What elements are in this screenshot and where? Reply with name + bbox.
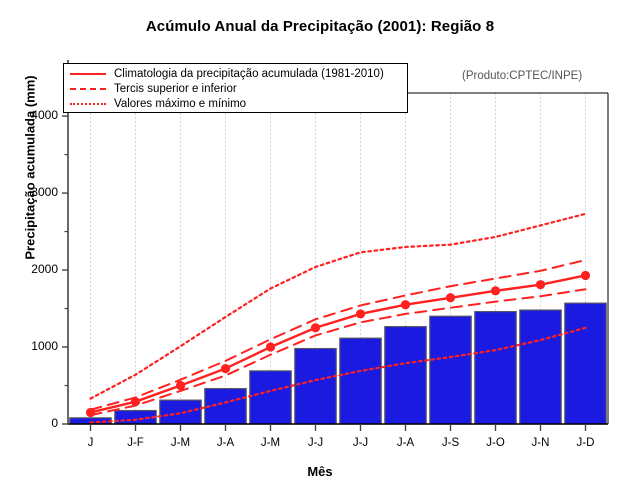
x-tick-label: J-N [518,437,564,449]
x-tick-label: J-A [203,437,249,449]
legend-line-dotted-icon [70,98,106,110]
x-tick-label: J-J [293,437,339,449]
y-tick-label: 4000 [16,108,58,122]
x-tick-label: J-M [158,437,204,449]
x-tick-label: J-F [113,437,159,449]
x-tick-label: J-S [428,437,474,449]
x-tick-label: J-A [383,437,429,449]
legend-item-climatology: Climatologia da precipitação acumulada (… [70,66,384,82]
y-tick-label: 0 [16,416,58,430]
x-tick-label: J-D [563,437,609,449]
legend-label: Climatologia da precipitação acumulada (… [114,68,384,80]
legend-label: Valores máximo e mínimo [114,98,246,110]
chart-figure: Acúmulo Anual da Precipitação (2001): Re… [0,0,640,500]
x-tick-label: J-O [473,437,519,449]
producer-annotation: (Produto:CPTEC/INPE) [462,70,582,82]
legend-label: Tercis superior e inferior [114,83,237,95]
x-axis-title: Mês [0,464,640,479]
legend-item-extremos: Valores máximo e mínimo [70,96,246,112]
legend-line-solid-icon [70,68,106,80]
x-tick-label: J-M [248,437,294,449]
y-tick-label: 3000 [16,185,58,199]
y-tick-label: 1000 [16,339,58,353]
chart-title: Acúmulo Anual da Precipitação (2001): Re… [0,18,640,35]
legend-line-dashed-icon [70,83,106,95]
x-tick-label: J [68,437,114,449]
x-tick-label: J-J [338,437,384,449]
legend-item-tercis: Tercis superior e inferior [70,81,237,97]
legend: Climatologia da precipitação acumulada (… [63,63,408,113]
y-tick-label: 2000 [16,262,58,276]
